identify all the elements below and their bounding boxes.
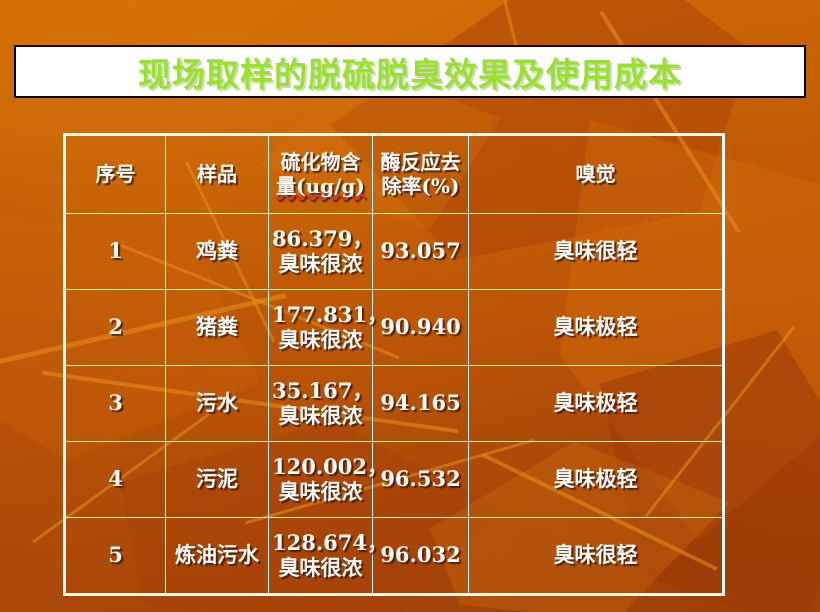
column-header-sulfide-line2: 量(ug/g) — [276, 174, 365, 198]
cell-sulfide: 120.002， 臭味很浓 — [269, 442, 373, 518]
cell-index: 5 — [65, 518, 166, 595]
table-row: 5 炼油污水 128.674， 臭味很浓 96.032 臭味很轻 — [65, 518, 724, 595]
table-row: 2 猪粪 177.831， 臭味很浓 90.940 臭味极轻 — [65, 290, 724, 366]
cell-sample: 污水 — [166, 366, 269, 442]
column-header-index: 序号 — [65, 135, 166, 214]
column-header-sulfide: 硫化物含 量(ug/g) — [269, 135, 373, 214]
cell-smell: 臭味极轻 — [469, 442, 724, 518]
cell-sulfide: 35.167， 臭味很浓 — [269, 366, 373, 442]
cell-index: 3 — [65, 366, 166, 442]
table-row: 1 鸡粪 86.379， 臭味很浓 93.057 臭味很轻 — [65, 214, 724, 290]
column-header-removal-rate-line2: 除率(%) — [382, 174, 460, 198]
cell-removal-rate: 93.057 — [373, 214, 469, 290]
cell-sulfide: 128.674， 臭味很浓 — [269, 518, 373, 595]
cell-sample: 炼油污水 — [166, 518, 269, 595]
cell-smell: 臭味很轻 — [469, 518, 724, 595]
column-header-smell: 嗅觉 — [469, 135, 724, 214]
cell-index: 1 — [65, 214, 166, 290]
table-row: 4 污泥 120.002， 臭味很浓 96.532 臭味极轻 — [65, 442, 724, 518]
cell-sulfide-value: 128.674， — [272, 530, 388, 555]
cell-sulfide-note: 臭味很浓 — [279, 479, 363, 504]
cell-sulfide-note: 臭味很浓 — [279, 251, 363, 276]
cell-smell: 臭味极轻 — [469, 366, 724, 442]
cell-sample: 污泥 — [166, 442, 269, 518]
cell-sulfide-note: 臭味很浓 — [279, 403, 363, 428]
cell-sample: 鸡粪 — [166, 214, 269, 290]
slide-title-box: 现场取样的脱硫脱臭效果及使用成本 — [14, 45, 806, 98]
cell-sulfide-value: 177.831， — [272, 302, 388, 327]
cell-sulfide-value: 86.379， — [272, 226, 373, 251]
cell-sample: 猪粪 — [166, 290, 269, 366]
cell-sulfide-value: 35.167， — [272, 378, 373, 403]
cell-removal-rate: 94.165 — [373, 366, 469, 442]
column-header-sulfide-line1: 硫化物含 — [281, 150, 361, 174]
cell-sulfide: 86.379， 臭味很浓 — [269, 214, 373, 290]
cell-index: 2 — [65, 290, 166, 366]
cell-sulfide: 177.831， 臭味很浓 — [269, 290, 373, 366]
cell-sulfide-note: 臭味很浓 — [279, 327, 363, 352]
table-header: 序号 样品 硫化物含 量(ug/g) 酶反应去 除率(%) 嗅觉 — [65, 135, 724, 214]
cell-smell: 臭味很轻 — [469, 214, 724, 290]
table-row: 3 污水 35.167， 臭味很浓 94.165 臭味极轻 — [65, 366, 724, 442]
column-header-removal-rate: 酶反应去 除率(%) — [373, 135, 469, 214]
column-header-sample: 样品 — [166, 135, 269, 214]
slide-canvas: 现场取样的脱硫脱臭效果及使用成本 序号 样品 硫化物含 量(ug/g) 酶反应去… — [0, 0, 820, 612]
table-body: 1 鸡粪 86.379， 臭味很浓 93.057 臭味很轻 2 猪粪 177.8… — [65, 214, 724, 595]
cell-sulfide-note: 臭味很浓 — [279, 555, 363, 580]
column-header-removal-rate-line1: 酶反应去 — [381, 150, 461, 174]
cell-sulfide-value: 120.002， — [272, 454, 388, 479]
results-table: 序号 样品 硫化物含 量(ug/g) 酶反应去 除率(%) 嗅觉 1 鸡粪 86… — [63, 133, 725, 596]
slide-title: 现场取样的脱硫脱臭效果及使用成本 — [138, 48, 682, 96]
cell-smell: 臭味极轻 — [469, 290, 724, 366]
table-header-row: 序号 样品 硫化物含 量(ug/g) 酶反应去 除率(%) 嗅觉 — [65, 135, 724, 214]
cell-index: 4 — [65, 442, 166, 518]
